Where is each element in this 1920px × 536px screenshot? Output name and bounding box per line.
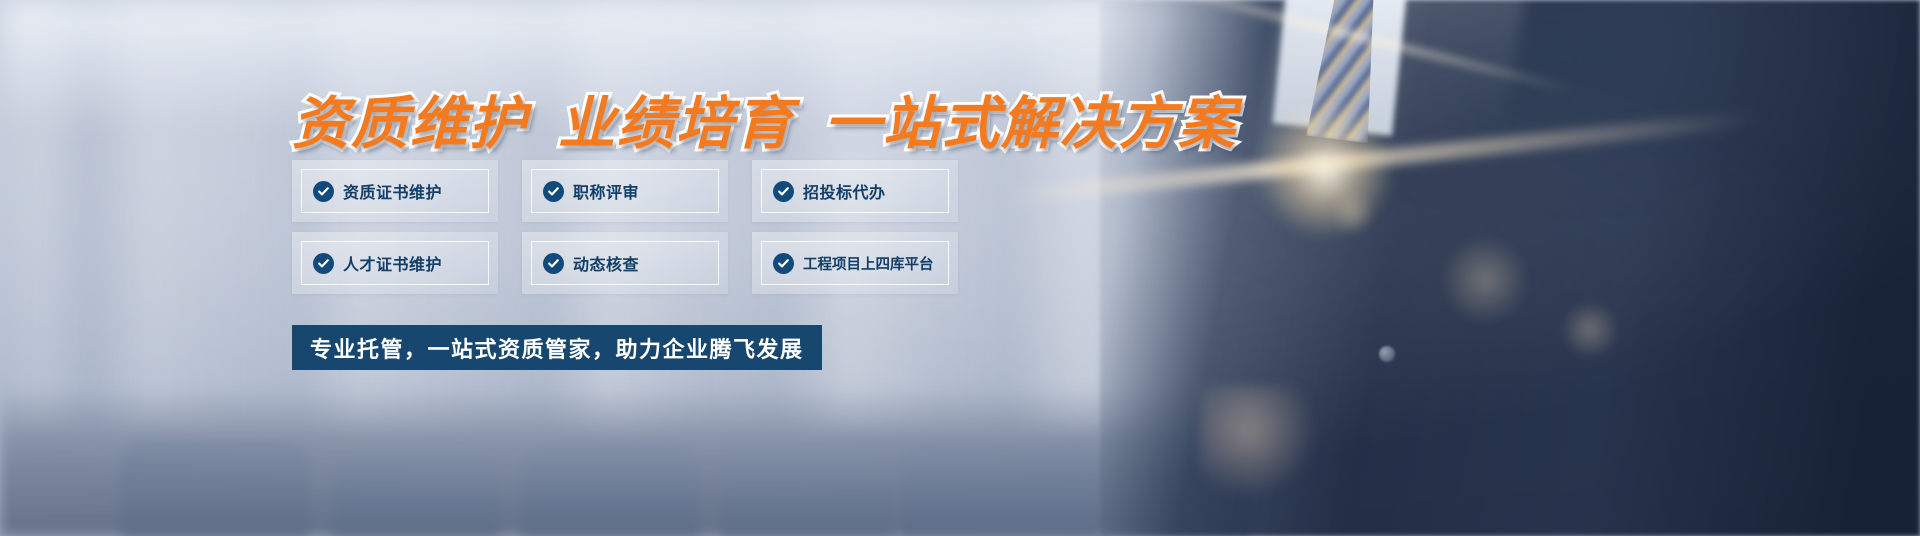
feature-card-label: 人才证书维护 (343, 251, 442, 275)
check-circle-icon (543, 253, 564, 274)
feature-card-label: 动态核查 (573, 251, 639, 275)
check-circle-icon (773, 181, 794, 202)
check-circle-icon (313, 181, 334, 202)
feature-card-dynamic-inspection[interactable]: 动态核查 (522, 232, 728, 294)
tagline-text: 专业托管，一站式资质管家，助力企业腾飞发展 (310, 332, 804, 364)
promo-banner: 资质维护业绩培育一站式解决方案 资质证书维护 职称评审 (0, 0, 1920, 536)
feature-card-inner: 人才证书维护 (301, 241, 489, 285)
feature-card-inner: 动态核查 (531, 241, 719, 285)
feature-card-talent-certificate[interactable]: 人才证书维护 (292, 232, 498, 294)
headline-part-3: 一站式解决方案 (824, 92, 1237, 156)
banner-content: 资质维护业绩培育一站式解决方案 资质证书维护 职称评审 (0, 0, 1920, 536)
headline: 资质维护业绩培育一站式解决方案 (292, 78, 1237, 160)
check-circle-icon (543, 181, 564, 202)
feature-card-label: 招投标代办 (803, 179, 886, 203)
feature-card-grid: 资质证书维护 职称评审 招投标代办 (292, 160, 958, 304)
feature-card-four-database-platform[interactable]: 工程项目上四库平台 (752, 232, 958, 294)
feature-card-qualification-certificate[interactable]: 资质证书维护 (292, 160, 498, 222)
feature-card-label: 职称评审 (573, 179, 639, 203)
headline-part-2: 业绩培育 (558, 92, 794, 156)
check-circle-icon (313, 253, 334, 274)
check-circle-icon (773, 253, 794, 274)
tagline-bar: 专业托管，一站式资质管家，助力企业腾飞发展 (292, 325, 822, 370)
feature-card-inner: 招投标代办 (761, 169, 949, 213)
feature-card-inner: 职称评审 (531, 169, 719, 213)
feature-card-title-review[interactable]: 职称评审 (522, 160, 728, 222)
feature-card-inner: 资质证书维护 (301, 169, 489, 213)
headline-part-1: 资质维护 (292, 92, 528, 156)
feature-card-inner: 工程项目上四库平台 (761, 241, 949, 285)
feature-card-label: 工程项目上四库平台 (803, 253, 934, 274)
feature-card-label: 资质证书维护 (343, 179, 442, 203)
feature-card-bidding-agency[interactable]: 招投标代办 (752, 160, 958, 222)
